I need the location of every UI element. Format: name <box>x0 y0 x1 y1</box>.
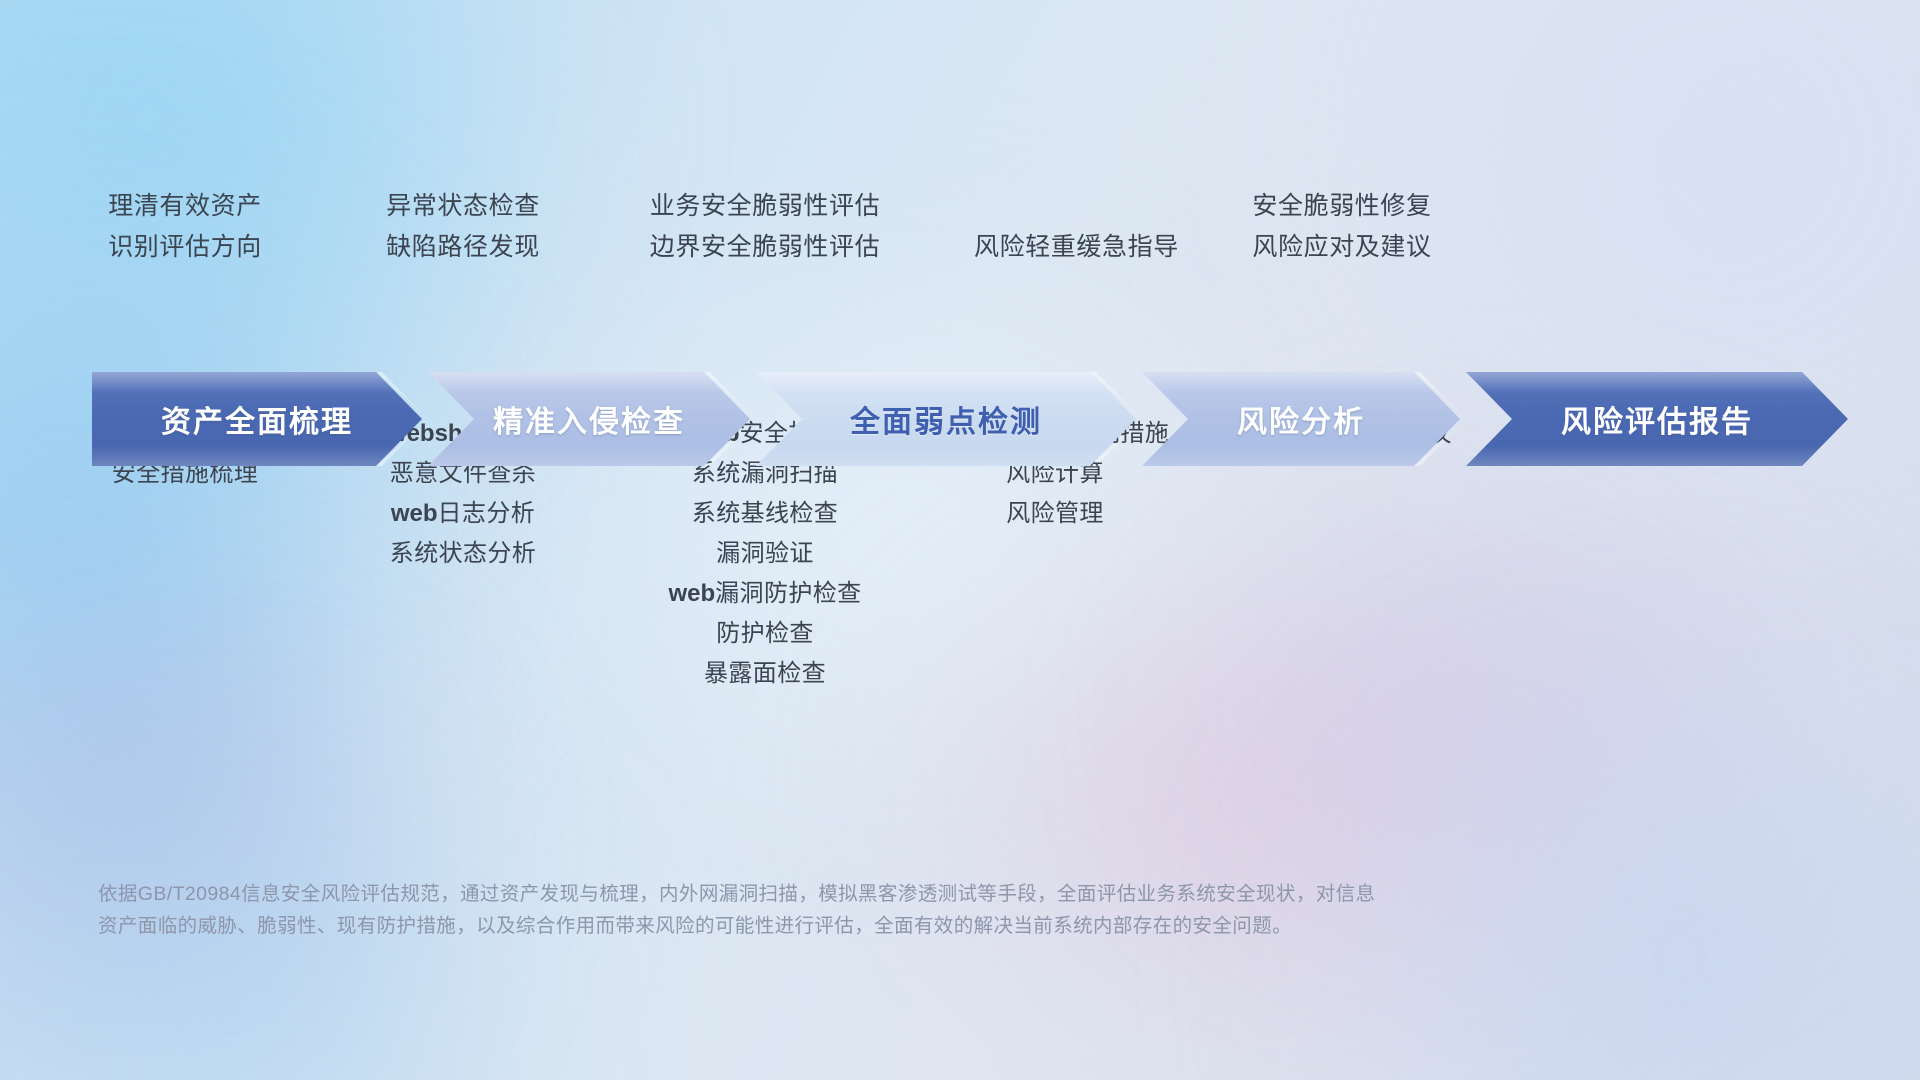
chevron-stage-3-label: 全面弱点检测 <box>850 397 1042 441</box>
stage-4-top-line-1: 风险轻重缓急指导 <box>974 227 1136 268</box>
chevron-stage-5-label: 风险评估报告 <box>1561 397 1753 441</box>
chevron-stage-4-label: 风险分析 <box>1237 397 1365 441</box>
stage-2-top-line-1: 异常状态检查 <box>370 186 556 227</box>
chevron-stage-2-label: 精准入侵检查 <box>493 397 685 441</box>
list-item: 暴露面检查 <box>556 654 974 694</box>
chevron-stage-2[interactable]: 精准入侵检查 <box>428 372 750 466</box>
chevron-stage-4[interactable]: 风险分析 <box>1142 372 1460 466</box>
stage-2-top-texts: 异常状态检查 缺陷路径发现 <box>370 186 556 268</box>
footer-line-2: 资产面临的威胁、脆弱性、现有防护措施，以及综合作用而带来风险的可能性进行评估，全… <box>98 910 1658 942</box>
stage-1-top-line-1: 理清有效资产 <box>0 186 370 227</box>
chevron-stage-3[interactable]: 全面弱点检测 <box>756 372 1136 466</box>
list-item: web日志分析 <box>370 494 556 534</box>
stage-2-top-line-2: 缺陷路径发现 <box>370 227 556 268</box>
list-item: 系统基线检查 <box>556 494 974 534</box>
list-item: web漏洞防护检查 <box>556 574 974 614</box>
list-item: 风险管理 <box>974 494 1136 534</box>
list-item: 系统状态分析 <box>370 534 556 574</box>
chevron-stage-1[interactable]: 资产全面梳理 <box>92 372 422 466</box>
stage-3-top-texts: 业务安全脆弱性评估 边界安全脆弱性评估 <box>556 186 974 268</box>
stage-3-top-line-1: 业务安全脆弱性评估 <box>556 186 974 227</box>
chevron-stage-5[interactable]: 风险评估报告 <box>1466 372 1848 466</box>
footer-line-1: 依据GB/T20984信息安全风险评估规范，通过资产发现与梳理，内外网漏洞扫描，… <box>98 878 1658 910</box>
stage-inputs-row: 理清有效资产 识别评估方向 异常状态检查 缺陷路径发现 业务安全脆弱性评估 边界… <box>0 186 1920 268</box>
process-chevron-bar: 资产全面梳理 精准入侵检查 全面弱点检测 风险分析 风险评估报告 <box>92 372 1848 466</box>
stage-4-top-texts: 风险轻重缓急指导 <box>974 186 1136 268</box>
stage-1-top-texts: 理清有效资产 识别评估方向 <box>0 186 370 268</box>
list-item: 防护检查 <box>556 614 974 654</box>
footer-description: 依据GB/T20984信息安全风险评估规范，通过资产发现与梳理，内外网漏洞扫描，… <box>98 878 1658 942</box>
list-item: 漏洞验证 <box>556 534 974 574</box>
stage-3-top-line-2: 边界安全脆弱性评估 <box>556 227 974 268</box>
stage-5-top-line-1: 安全脆弱性修复 <box>1136 186 1548 227</box>
stage-5-top-texts: 安全脆弱性修复 风险应对及建议 <box>1136 186 1548 268</box>
stage-5-top-line-2: 风险应对及建议 <box>1136 227 1548 268</box>
chevron-stage-1-label: 资产全面梳理 <box>161 397 353 441</box>
stage-1-top-line-2: 识别评估方向 <box>0 227 370 268</box>
